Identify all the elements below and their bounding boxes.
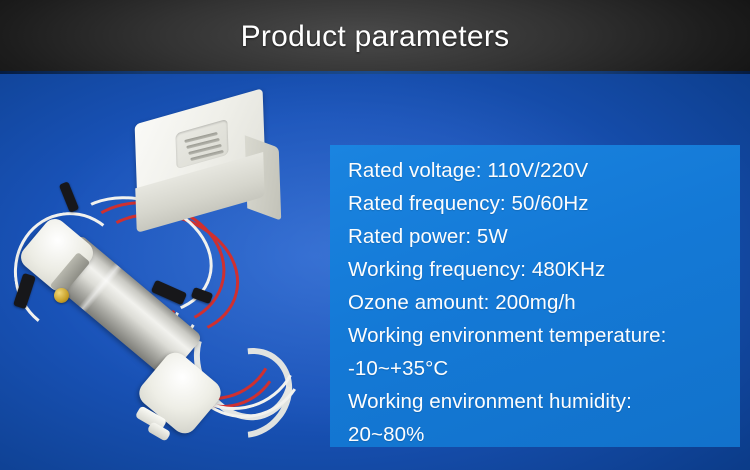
spec-line-temperature-value: -10~+35°C [348,352,724,385]
spec-line-rated-power: Rated power: 5W [348,220,724,253]
brass-screw [54,288,69,303]
product-parameters-banner: Product parameters [0,0,750,470]
header-banner: Product parameters [0,0,750,74]
spec-line-temperature-label: Working environment temperature: [348,319,724,352]
spec-line-humidity-value: 20~80% [348,418,724,451]
heat-shrink-sleeve [59,181,80,213]
hose-barb-tip [147,421,172,442]
spec-line-rated-voltage: Rated voltage: 110V/220V [348,154,724,187]
spec-line-working-frequency: Working frequency: 480KHz [348,253,724,286]
spec-line-ozone-amount: Ozone amount: 200mg/h [348,286,724,319]
product-photo [0,74,330,470]
spec-line-humidity-label: Working environment humidity: [348,385,724,418]
spec-line-rated-frequency: Rated frequency: 50/60Hz [348,187,724,220]
page-title: Product parameters [0,19,750,55]
specifications-panel: Rated voltage: 110V/220V Rated frequency… [330,145,740,447]
